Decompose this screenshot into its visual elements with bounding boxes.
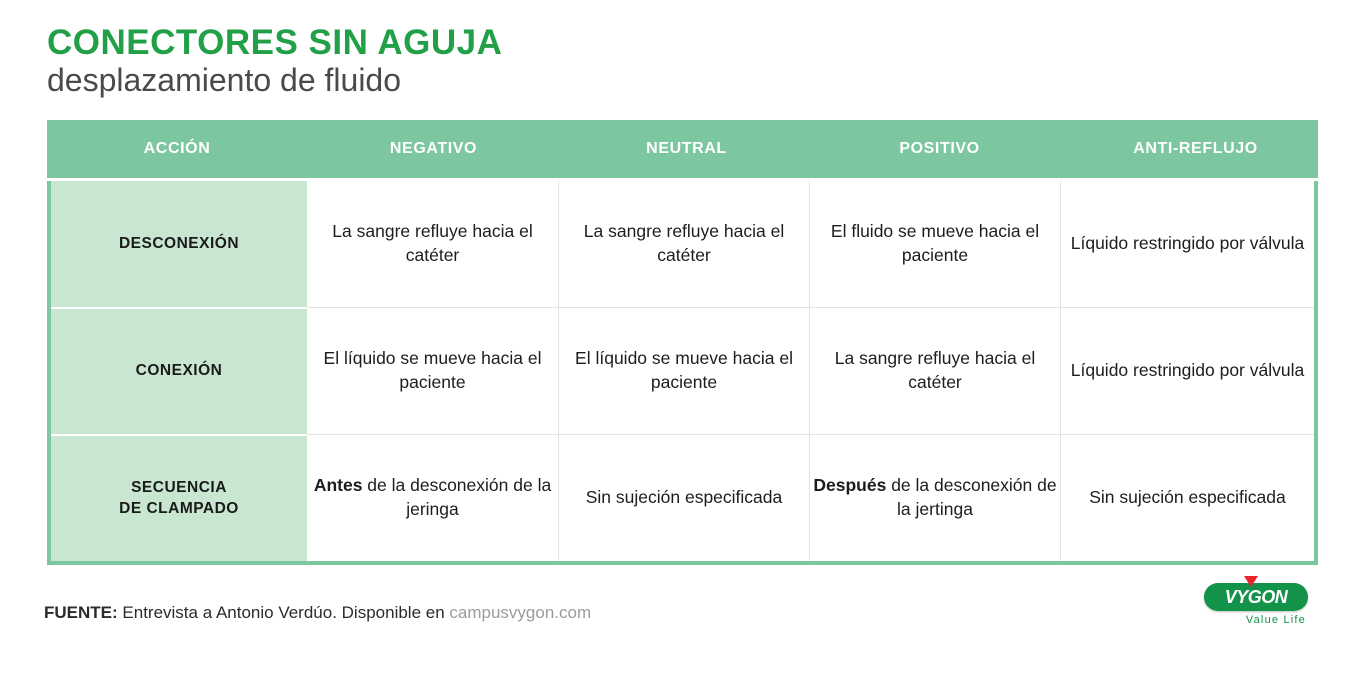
cell-secuencia-negativo-emphasis: Antes	[314, 475, 363, 495]
column-header-negativo: NEGATIVO	[307, 140, 560, 158]
title-main: CONECTORES SIN AGUJA	[47, 24, 502, 61]
cell-secuencia-positivo-emphasis: Después	[813, 475, 886, 495]
logo-wordmark: VYGON	[1225, 588, 1288, 606]
column-header-accion: ACCIÓN	[47, 140, 307, 158]
table-row: CONEXIÓN El líquido se mueve hacia el pa…	[51, 307, 1314, 434]
source-text: Entrevista a Antonio Verdúo. Disponible …	[118, 603, 450, 622]
logo-tagline: Value Life	[1204, 614, 1308, 626]
row-label-line-1: SECUENCIA	[131, 479, 227, 496]
column-header-positivo: POSITIVO	[813, 140, 1066, 158]
cell-secuencia-antirreflujo: Sin sujeción especificada	[1060, 435, 1314, 561]
row-label-secuencia-de-clampado: SECUENCIA DE CLAMPADO	[51, 434, 307, 561]
cell-desconexion-negativo: La sangre refluye hacia el catéter	[307, 181, 558, 307]
title-subtitle: desplazamiento de fluido	[47, 63, 502, 99]
cell-desconexion-positivo: El fluido se mueve hacia el paciente	[809, 181, 1060, 307]
cell-desconexion-antirreflujo: Líquido restringido por válvula	[1060, 181, 1314, 307]
source-footer: FUENTE: Entrevista a Antonio Verdúo. Dis…	[44, 603, 591, 623]
cell-secuencia-positivo: Después de la desconexión de la jertinga	[809, 435, 1060, 561]
column-header-neutral: NEUTRAL	[560, 140, 813, 158]
cell-conexion-positivo: La sangre refluye hacia el catéter	[809, 308, 1060, 434]
row-label-conexion: CONEXIÓN	[51, 307, 307, 434]
vygon-logo: VYGON Value Life	[1204, 583, 1308, 626]
table-row: DESCONEXIÓN La sangre refluye hacia el c…	[51, 181, 1314, 307]
cell-secuencia-positivo-rest: de la desconexión de la jertinga	[886, 475, 1056, 519]
source-label: FUENTE:	[44, 603, 118, 622]
table-row: SECUENCIA DE CLAMPADO Antes de la descon…	[51, 434, 1314, 561]
cell-conexion-negativo: El líquido se mueve hacia el paciente	[307, 308, 558, 434]
infographic-page: { "title": { "main": "CONECTORES SIN AGU…	[0, 0, 1345, 684]
cell-secuencia-neutral: Sin sujeción especificada	[558, 435, 809, 561]
cell-secuencia-negativo: Antes de la desconexión de la jeringa	[307, 435, 558, 561]
table-header-row: ACCIÓN NEGATIVO NEUTRAL POSITIVO ANTI-RE…	[47, 120, 1318, 178]
comparison-table: ACCIÓN NEGATIVO NEUTRAL POSITIVO ANTI-RE…	[47, 120, 1318, 565]
cell-secuencia-negativo-rest: de la desconexión de la jeringa	[362, 475, 551, 519]
cell-conexion-antirreflujo: Líquido restringido por válvula	[1060, 308, 1314, 434]
table-body: DESCONEXIÓN La sangre refluye hacia el c…	[47, 181, 1318, 565]
cell-desconexion-neutral: La sangre refluye hacia el catéter	[558, 181, 809, 307]
source-link[interactable]: campusvygon.com	[449, 603, 591, 622]
column-header-anti-reflujo: ANTI-REFLUJO	[1066, 140, 1325, 158]
logo-pill: VYGON	[1204, 583, 1308, 611]
page-title: CONECTORES SIN AGUJA desplazamiento de f…	[47, 24, 502, 99]
row-label-desconexion: DESCONEXIÓN	[51, 181, 307, 307]
cell-conexion-neutral: El líquido se mueve hacia el paciente	[558, 308, 809, 434]
row-label-line-2: DE CLAMPADO	[119, 500, 239, 517]
triangle-icon	[1244, 576, 1258, 587]
